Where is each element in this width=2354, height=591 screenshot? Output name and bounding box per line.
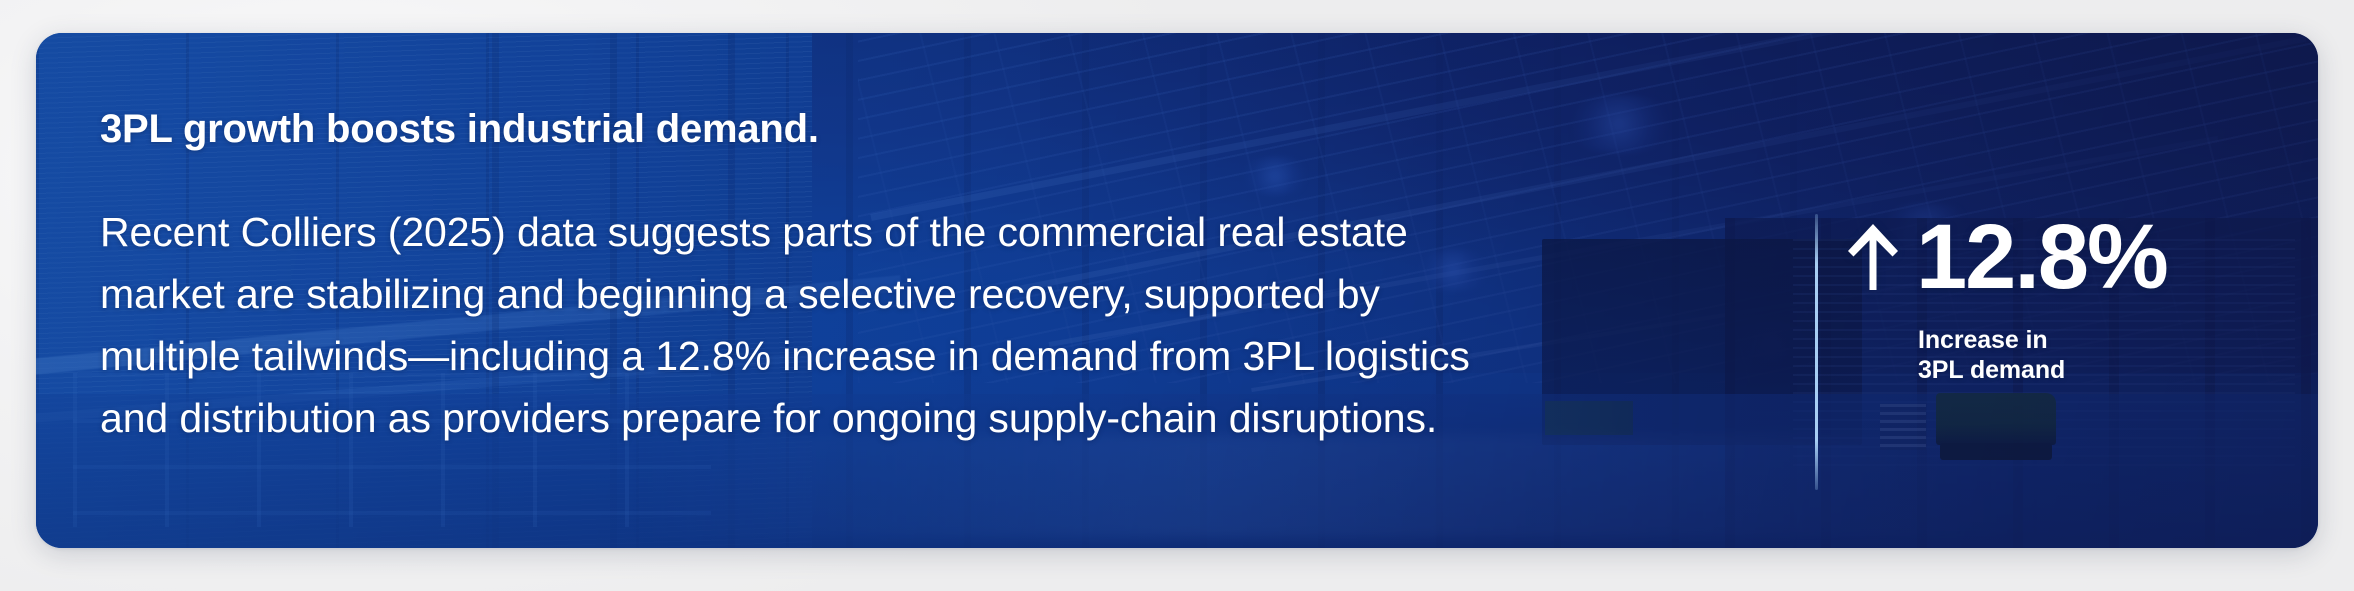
statistic-value: 12.8% <box>1916 211 2167 303</box>
body-line: market are stabilizing and beginning a s… <box>100 263 1790 325</box>
body-line: multiple tailwinds—including a 12.8% inc… <box>100 325 1790 387</box>
body-line: Recent Colliers (2025) data suggests par… <box>100 201 1790 263</box>
statistic-caption-line1: Increase in <box>1918 325 2276 355</box>
statistic-callout: 12.8% Increase in 3PL demand <box>1846 211 2276 385</box>
arrow-up-icon <box>1846 220 1900 294</box>
statistic-caption-line2: 3PL demand <box>1918 355 2276 385</box>
body-paragraph: Recent Colliers (2025) data suggests par… <box>100 201 1790 449</box>
statistic-value-row: 12.8% <box>1846 211 2276 303</box>
insight-card: 3PL growth boosts industrial demand. Rec… <box>36 33 2318 548</box>
statistic-caption: Increase in 3PL demand <box>1918 325 2276 385</box>
body-line: and distribution as providers prepare fo… <box>100 387 1790 449</box>
page-root: 3PL growth boosts industrial demand. Rec… <box>0 0 2354 591</box>
headline: 3PL growth boosts industrial demand. <box>100 107 819 152</box>
vertical-divider <box>1815 214 1818 490</box>
card-content: 3PL growth boosts industrial demand. Rec… <box>36 33 2318 548</box>
